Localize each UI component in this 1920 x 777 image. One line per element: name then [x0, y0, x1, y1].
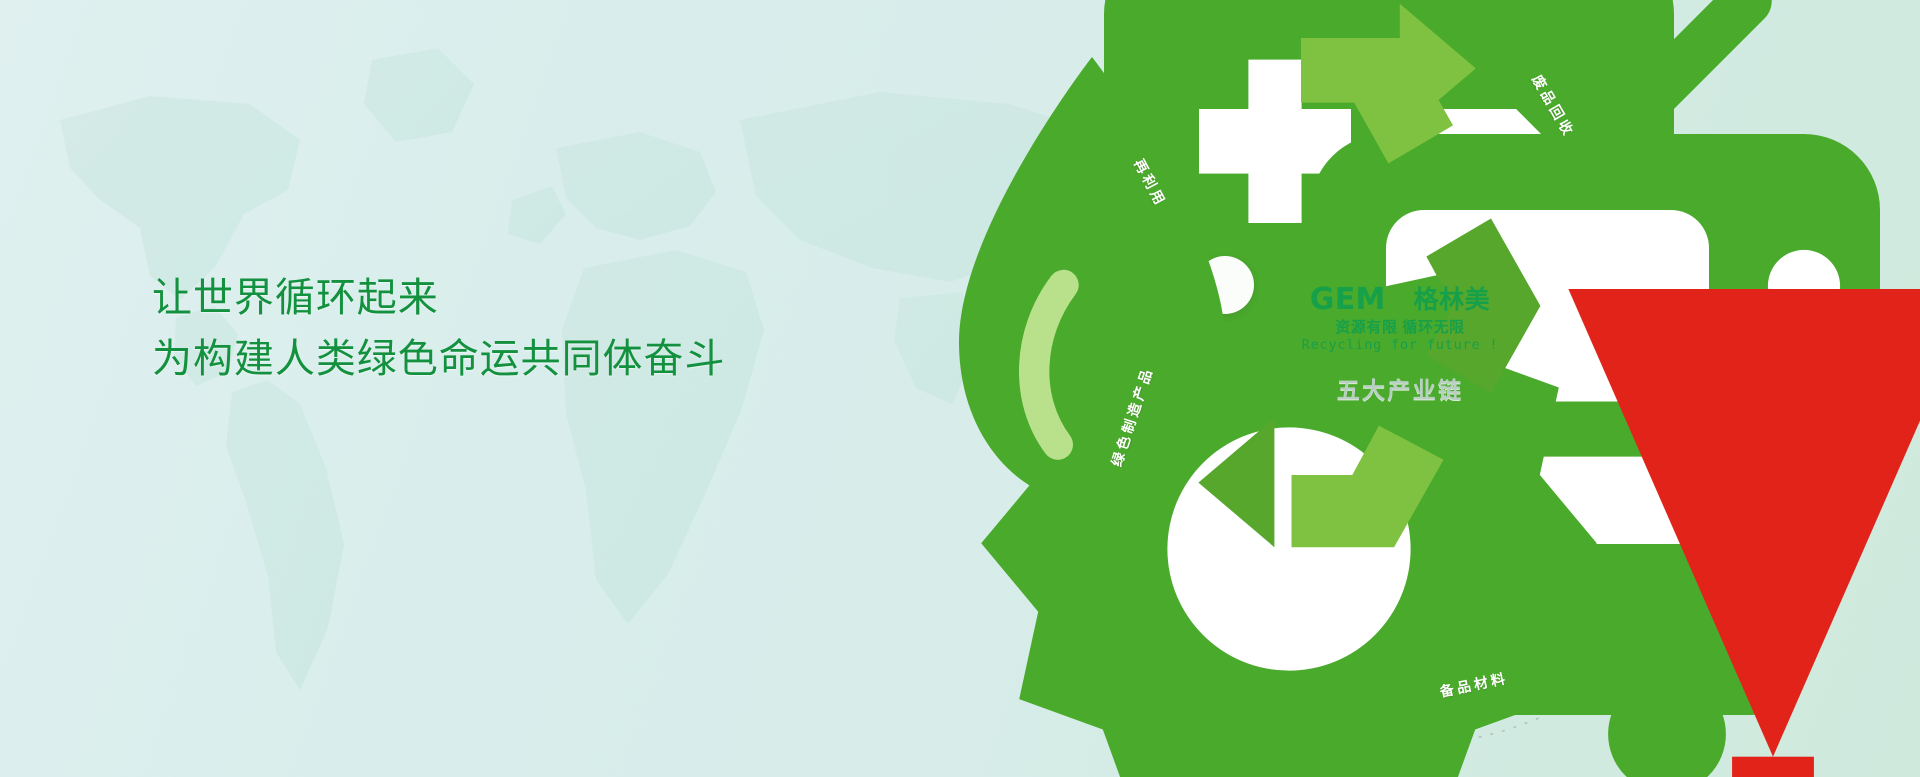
circular-economy-diagram: 废水、废渣、废泥治理产业链 废旧电池回收与动力电池材料制造产业链 电子废弃物循环… [1020, 8, 1780, 768]
water-recycle-icon-node[interactable] [1196, 256, 1254, 314]
headline-line-2: 为构建人类绿色命运共同体奋斗 [152, 329, 725, 390]
gem-logo: GEM 格林美 资源有限 循环无限 Recycling for future !… [1263, 285, 1537, 402]
brand-latin: GEM [1310, 285, 1386, 315]
headline-line-1: 让世界循环起来 [152, 268, 725, 329]
page-headline: 让世界循环起来 为构建人类绿色命运共同体奋斗 [152, 268, 725, 390]
gem-triangle-mark [1393, 289, 1407, 314]
logo-top-row: GEM 格林美 [1263, 285, 1537, 315]
